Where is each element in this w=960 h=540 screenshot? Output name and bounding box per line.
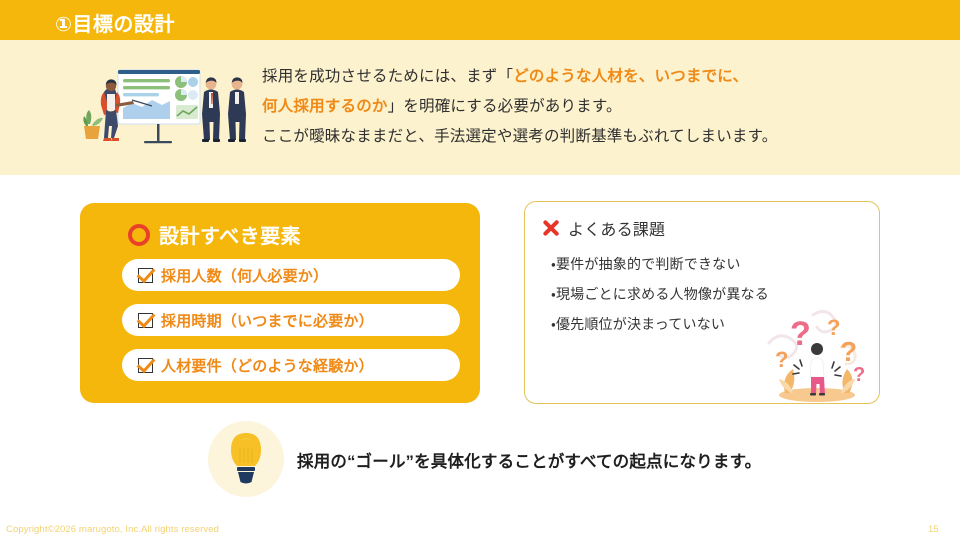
lightbulb-icon [208, 421, 284, 497]
lightbulb-badge [208, 421, 284, 497]
svg-text:?: ? [840, 336, 857, 367]
intro-paragraph: 採用を成功させるためには、まず「どのような人材を、いつまでに、 何人採用するのか… [262, 62, 922, 152]
common-issues-title: よくある課題 [568, 216, 665, 240]
design-element-label-2: 採用時期（いつまでに必要か） [161, 310, 374, 331]
common-issues-header: よくある課題 [541, 216, 665, 240]
intro-line1-highlight: どのような人材を、いつまでに、 [513, 68, 748, 85]
design-elements-card: 設計すべき要素 採用人数（何人必要か） 採用時期（いつまでに必要か） 人材要件（… [80, 203, 480, 403]
person-with-question-marks-illustration: ? ? ? ? ? [755, 303, 875, 403]
cross-mark-icon [541, 218, 561, 238]
checkbox-checked-icon [138, 358, 153, 373]
svg-text:?: ? [790, 315, 811, 353]
design-element-item-3[interactable]: 人材要件（どのような経験か） [122, 349, 460, 381]
intro-line1-plain: 採用を成功させるためには、まず「 [262, 68, 513, 85]
page-title: ①目標の設計 [55, 8, 175, 37]
checkbox-checked-icon [138, 313, 153, 328]
footer-page-number: 15 [928, 524, 939, 535]
design-elements-title: 設計すべき要素 [159, 220, 301, 249]
checkbox-checked-icon [138, 268, 153, 283]
intro-line2-highlight: 何人採用するのか [262, 98, 388, 115]
common-issues-card: よくある課題 ・要件が抽象的で判断できない ・現場ごとに求める人物像が異なる ・… [524, 201, 880, 404]
design-element-item-2[interactable]: 採用時期（いつまでに必要か） [122, 304, 460, 336]
circle-ring-icon [128, 224, 150, 246]
footer-copyright: Copyright©2026 marugoto, Inc.All rights … [6, 524, 219, 535]
issue-item: ・要件が抽象的で判断できない [551, 249, 851, 279]
svg-text:?: ? [775, 347, 788, 372]
conclusion-text: 採用の“ゴール”を具体化することがすべての起点になります。 [297, 448, 761, 472]
svg-text:?: ? [853, 364, 865, 386]
design-element-label-3: 人材要件（どのような経験か） [161, 355, 374, 376]
design-element-item-1[interactable]: 採用人数（何人必要か） [122, 259, 460, 291]
design-element-label-1: 採用人数（何人必要か） [161, 265, 328, 286]
design-elements-header: 設計すべき要素 [128, 220, 301, 249]
presentation-meeting-illustration [82, 62, 257, 162]
slide-root: ①目標の設計 [0, 0, 960, 540]
intro-line3: ここが曖昧なままだと、手法選定や選考の判断基準もぶれてしまいます。 [262, 128, 777, 145]
intro-line2-plain: 」を明確にする必要があります。 [388, 98, 622, 115]
svg-text:?: ? [827, 315, 840, 340]
